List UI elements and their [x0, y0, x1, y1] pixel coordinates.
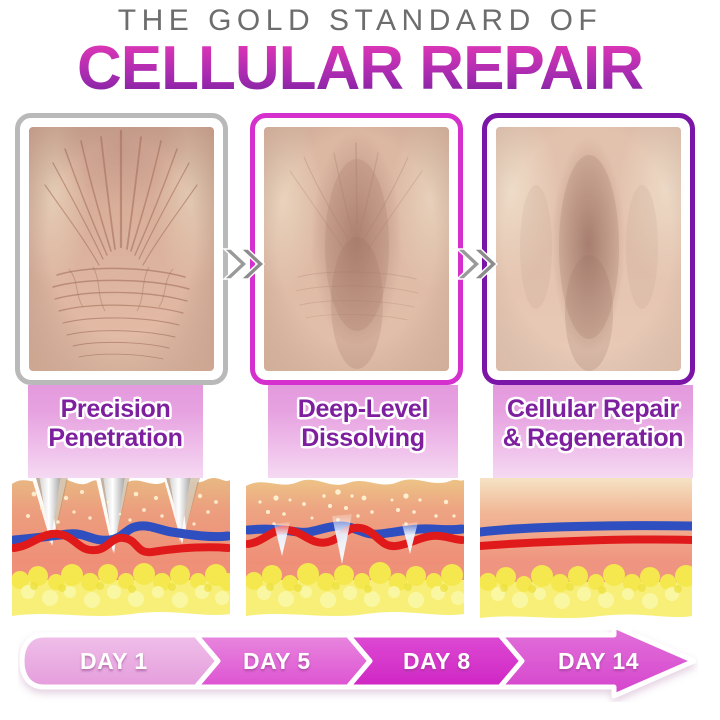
- timeline-label-day-1: DAY 1: [80, 648, 148, 675]
- skin-cross-section-dissolving: [246, 468, 464, 630]
- photo-inner-mid: [264, 127, 449, 371]
- photo-inner-after: [496, 127, 681, 371]
- stage-label-2-text: Deep-Level Dissolving: [298, 395, 428, 453]
- skin-photo-before: [29, 127, 214, 371]
- page-subtitle: THE GOLD STANDARD OF: [0, 4, 720, 38]
- timeline-label-day-14: DAY 14: [558, 648, 639, 675]
- stage-label-3: Cellular Repair & Regeneration: [493, 385, 693, 478]
- timeline-label-day-5: DAY 5: [243, 648, 311, 675]
- skin-cross-section-regenerated: [480, 468, 692, 630]
- header: THE GOLD STANDARD OF CELLULAR REPAIR: [0, 0, 720, 105]
- photo-frame-after: [482, 113, 695, 385]
- skin-photo-mid: [264, 127, 449, 371]
- stage-label-3-text: Cellular Repair & Regeneration: [503, 395, 684, 453]
- stage-label-1: Precision Penetration: [28, 385, 203, 478]
- progress-chevron-2-icon: [455, 247, 499, 281]
- progress-chevron-1-icon: [222, 247, 266, 281]
- stage-label-2: Deep-Level Dissolving: [268, 385, 458, 478]
- skin-photo-after: [496, 127, 681, 371]
- timeline-label-day-8: DAY 8: [403, 648, 471, 675]
- photo-inner-before: [29, 127, 214, 371]
- photo-frame-before: [15, 113, 228, 385]
- skin-cross-section-penetration: [12, 468, 230, 630]
- infographic-root: THE GOLD STANDARD OF CELLULAR REPAIR: [0, 0, 720, 720]
- photo-frame-mid: [250, 113, 463, 385]
- page-title: CELLULAR REPAIR: [0, 38, 720, 100]
- stage-label-1-text: Precision Penetration: [48, 395, 182, 453]
